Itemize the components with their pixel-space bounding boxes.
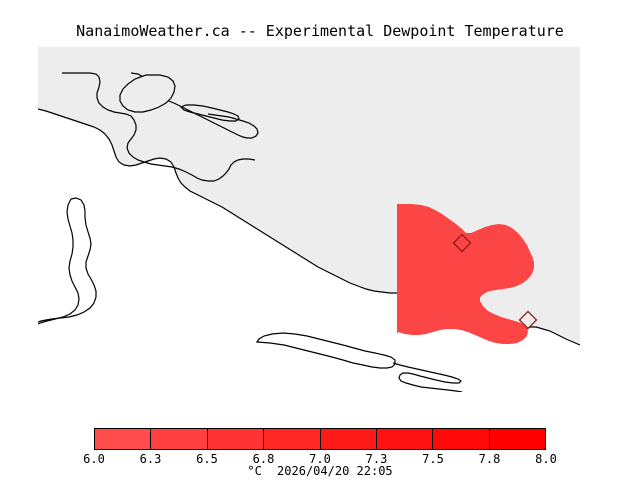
colorbar-segment-2 (208, 429, 264, 449)
coastline-island-lower-small (393, 363, 462, 392)
colorbar-segment-4 (321, 429, 377, 449)
colorbar-segment-5 (377, 429, 433, 449)
page-title: NanaimoWeather.ca -- Experimental Dewpoi… (0, 22, 640, 40)
coastline-island-lower-long (257, 333, 395, 368)
colorbar-segment-3 (264, 429, 320, 449)
colorbar-units: °C (247, 464, 261, 478)
coastline-inlet-left-east (38, 199, 79, 324)
weather-map-page: NanaimoWeather.ca -- Experimental Dewpoi… (0, 0, 640, 480)
colorbar-timestamp: 2026/04/20 22:05 (277, 464, 393, 478)
colorbar-segment-6 (433, 429, 489, 449)
map-canvas[interactable] (38, 47, 580, 392)
colorbar (94, 428, 546, 450)
coastline-inlet-left (38, 198, 96, 322)
colorbar-caption: °C 2026/04/20 22:05 (0, 464, 640, 478)
colorbar-gradient (94, 428, 546, 450)
colorbar-segment-7 (490, 429, 545, 449)
colorbar-segment-0 (95, 429, 151, 449)
landmass-upper (38, 47, 580, 345)
map-panel[interactable] (38, 47, 580, 392)
colorbar-segment-1 (151, 429, 207, 449)
